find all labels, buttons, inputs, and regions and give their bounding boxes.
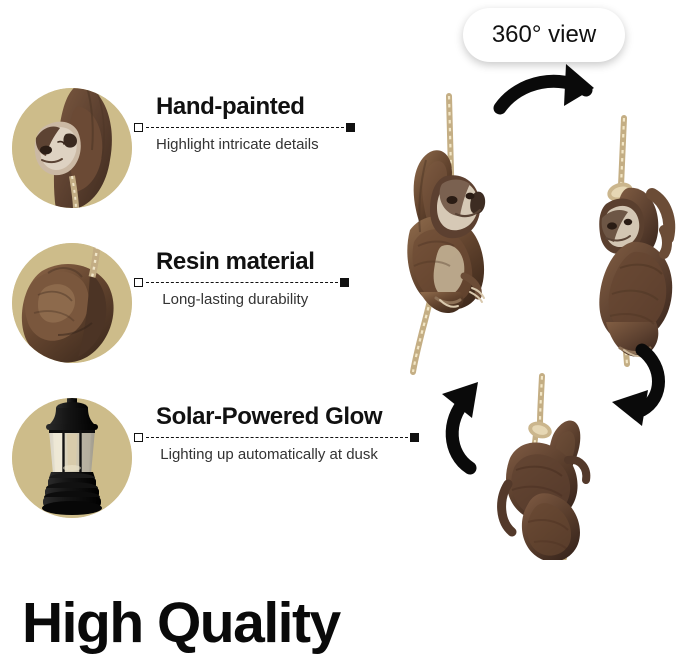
page-headline: High Quality [22,595,340,652]
feature-rule [134,431,382,445]
sloth-body-closeup-thumb [12,243,132,363]
feature-subtitle: Long-lasting durability [134,291,314,309]
feature-rule [134,276,314,290]
solar-lantern-thumb [12,398,132,518]
sloth-view-back [502,420,587,560]
feature-rule [134,121,319,135]
hollow-square-marker [134,433,143,442]
feature-text-block: Hand-painted Highlight intricate details [134,94,319,154]
feature-title: Resin material [134,249,314,275]
rotate-arrow-bottom-right [612,350,659,426]
dashed-connector [146,127,344,128]
product-360-showcase [380,60,679,560]
hollow-square-marker [134,123,143,132]
360-view-badge-label: 360° view [492,21,596,49]
feature-title: Solar-Powered Glow [134,404,382,430]
feature-subtitle: Lighting up automatically at dusk [134,446,382,464]
rotate-arrow-bottom-left [442,382,478,468]
solid-square-marker [346,123,355,132]
solid-square-marker [340,278,349,287]
feature-title: Hand-painted [134,94,319,120]
product-infographic: Hand-painted Highlight intricate details [0,0,679,666]
rotate-arrow-top [500,64,594,108]
dashed-connector [146,282,338,283]
dashed-connector [146,437,408,438]
hollow-square-marker [134,278,143,287]
sloth-head-closeup-thumb [12,88,132,208]
feature-text-block: Solar-Powered Glow Lighting up automatic… [134,404,382,464]
feature-subtitle: Highlight intricate details [134,136,319,154]
sloth-view-front-left [407,150,485,313]
feature-text-block: Resin material Long-lasting durability [134,249,314,309]
sloth-view-right [599,188,672,357]
360-view-badge[interactable]: 360° view [463,8,625,62]
